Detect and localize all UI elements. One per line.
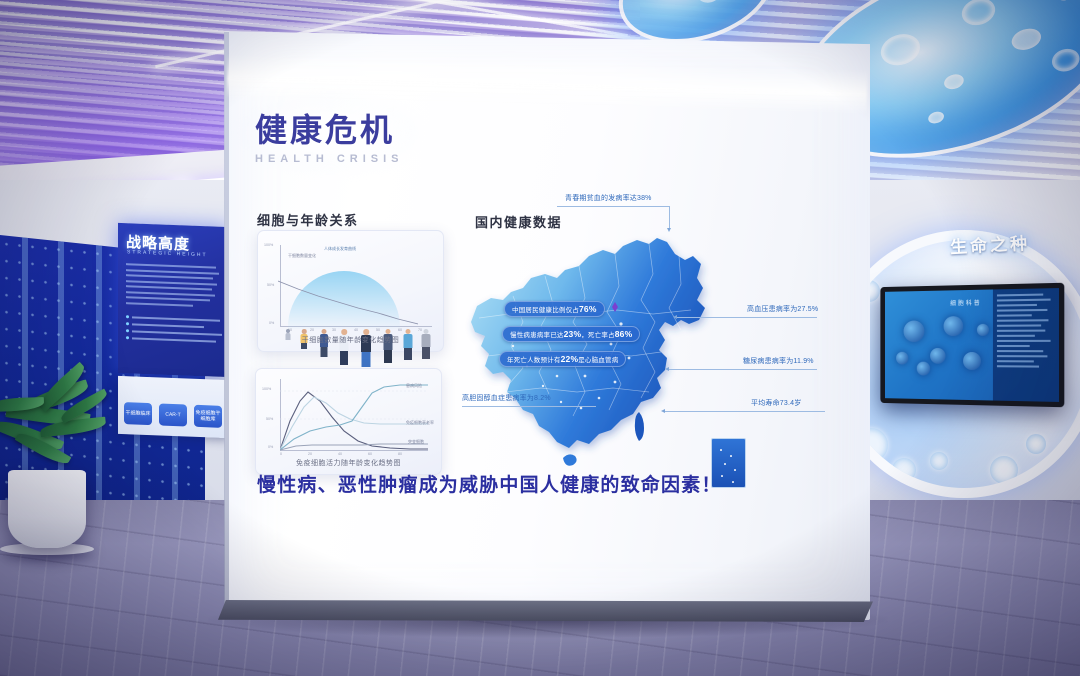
chart1-xtick: 30 (332, 328, 336, 332)
chart1-annotation-stemcell: 干细胞数量变化 (288, 253, 316, 259)
chart2-xtick: 80 (398, 452, 402, 456)
section-title-cells-age: 细胞与年龄关系 (257, 210, 359, 229)
panel-bullet-list (126, 315, 222, 347)
callout-lifespan-label: 平均寿命73.4岁 (751, 398, 801, 408)
chart1-annotation-growth: 人体成长发育曲线 (324, 246, 356, 252)
chart1-xtick: 10 (288, 328, 292, 332)
page-title: 健康危机 (255, 105, 404, 151)
chart2-legend-item: 患病风险 (406, 383, 422, 389)
chart2-legend-item: 突变细胞 (408, 439, 424, 445)
chart2-xtick: 40 (338, 452, 342, 456)
chip-label[interactable]: 免疫细胞干细胞库 (194, 405, 222, 428)
exhibit-title-seed-of-life: 生命之种 (949, 229, 1030, 258)
panel-paragraph (126, 263, 221, 311)
chart2-ytick: 100% (262, 387, 271, 391)
stat-pill-health-ratio: 中国居民健康比例仅占76% (504, 301, 605, 317)
callout-anemia-label: 青春期贫血的发病率达38% (565, 193, 652, 203)
callout-anemia-leader (557, 206, 669, 207)
chart2-ytick: 50% (266, 417, 273, 421)
callout-anemia-leader-v (669, 206, 670, 230)
screen-content: 细胞科普 (885, 288, 1059, 402)
exhibition-hall-photo: 战略高度 STRATEGIC HEIGHT 干细胞临床 CAR-T 免疫细胞干细… (0, 0, 1080, 676)
chart1-xtick: 70 (418, 328, 422, 332)
plant-pot (8, 470, 86, 548)
chart2-xtick: 60 (368, 452, 372, 456)
callout-cholesterol-leader (462, 406, 596, 407)
touch-screen-display[interactable]: 细胞科普 (880, 283, 1064, 408)
callout-hypertension-label: 高血压患病率为27.5% (747, 304, 818, 314)
callout-lifespan-arrow-icon (661, 409, 665, 413)
poster-headline: 慢性病、恶性肿瘤成为威胁中国人健康的致命因素！ (257, 470, 722, 497)
chart2-xtick: 20 (308, 452, 312, 456)
callout-diabetes-arrow-icon (665, 367, 669, 371)
stat-pill-chronic: 慢性病患病率已达23%，死亡率占86% (502, 326, 640, 342)
chart2-ytick: 0% (268, 445, 273, 449)
screen-caption: 细胞科普 (950, 298, 982, 308)
page-subtitle-en: HEALTH CRISIS (255, 153, 404, 165)
chart1-stemcell-line (278, 279, 418, 327)
callout-anemia-arrow-icon (667, 228, 671, 232)
callout-diabetes-label: 糖尿病患病率为11.9% (743, 356, 814, 366)
chip-label[interactable]: CAR-T (159, 403, 187, 426)
screen-info-panel (993, 288, 1059, 402)
chart1-xtick: 40 (354, 328, 358, 332)
chart1-caption: 干细胞数量随年龄变化趋势图 (258, 335, 443, 345)
callout-hypertension-arrow-icon (673, 315, 677, 319)
wall-content: 健康危机 HEALTH CRISIS 细胞与年龄关系 国内健康数据 100% 5… (225, 30, 870, 620)
exhibit-panel-strategic-height[interactable]: 战略高度 STRATEGIC HEIGHT (118, 223, 230, 377)
taiwan-island (635, 412, 644, 441)
chart1-xtick: 20 (310, 328, 314, 332)
chart1-ytick: 100% (264, 243, 273, 247)
poster-title-block: 健康危机 HEALTH CRISIS (255, 105, 404, 165)
chart-card-immunity[interactable]: 100% 50% 0% 患病风险 免疫细胞衰老率 突变细胞 0 20 40 60… (255, 368, 442, 475)
callout-lifespan-leader (665, 411, 825, 412)
chart2-series-lines (280, 379, 428, 451)
callout-hypertension-leader (677, 317, 817, 318)
chart1-ytick: 50% (267, 283, 274, 287)
callout-diabetes-leader (669, 369, 817, 370)
callout-cholesterol-label: 高胆固醇血症患病率为8.2% (462, 393, 551, 403)
hainan-island (563, 454, 577, 465)
chart-card-stemcell[interactable]: 100% 50% 0% 干细胞数量变化 人体成长发育曲线 (257, 230, 444, 352)
panel-title-en: STRATEGIC HEIGHT (127, 249, 208, 258)
chart1-ytick: 0% (269, 321, 274, 325)
chart1-xtick: 50 (376, 328, 380, 332)
chart2-xtick: 0 (280, 452, 282, 456)
chart2-legend-item: 免疫细胞衰老率 (406, 420, 434, 426)
chart1-xtick: 60 (398, 328, 402, 332)
stat-pill-cardiovascular: 年死亡人数预计有22%是心脑血管病 (499, 351, 626, 367)
chart2-caption: 免疫细胞活力随年龄变化趋势图 (256, 458, 441, 468)
